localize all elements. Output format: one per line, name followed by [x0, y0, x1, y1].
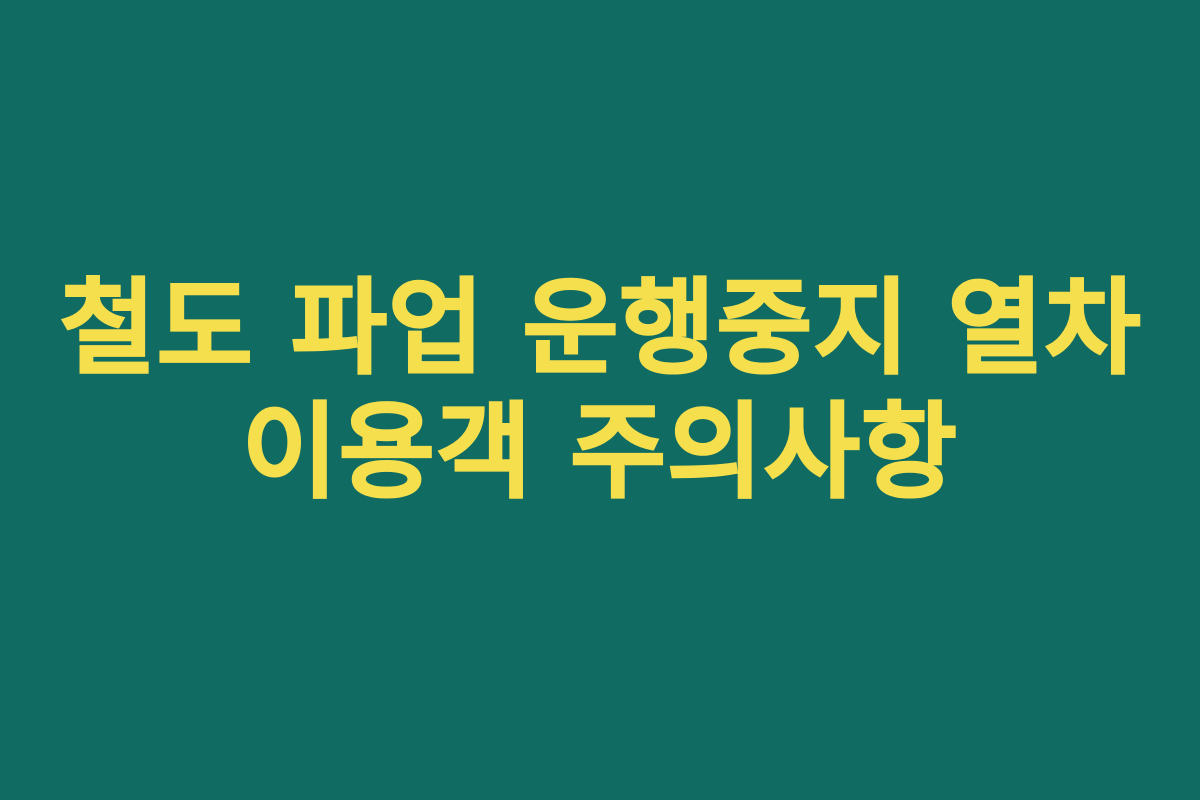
headline-line-2: 이용객 주의사항	[60, 394, 1140, 510]
headline-text-block: 철도 파업 운행중지 열차 이용객 주의사항	[40, 270, 1160, 511]
banner-background: 철도 파업 운행중지 열차 이용객 주의사항	[0, 0, 1200, 800]
headline-line-1: 철도 파업 운행중지 열차	[60, 270, 1140, 386]
